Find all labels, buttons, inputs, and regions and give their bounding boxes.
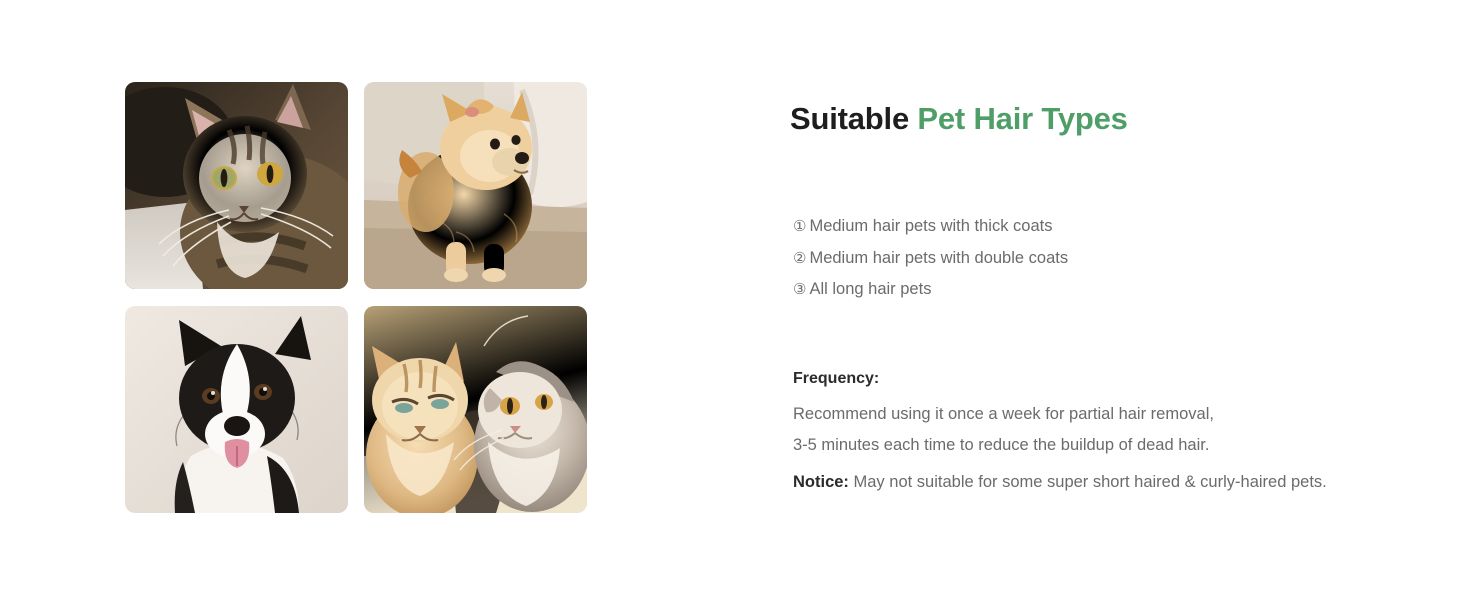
circled-number-3-icon: ③: [793, 281, 806, 298]
frequency-block: Frequency: Recommend using it once a wee…: [793, 368, 1413, 461]
frequency-label: Frequency:: [793, 368, 1413, 390]
pomeranian-dog-photo: [364, 82, 587, 289]
frequency-line-1: Recommend using it once a week for parti…: [793, 399, 1413, 430]
page-title-accent: Pet Hair Types: [917, 101, 1127, 136]
hair-type-label: Medium hair pets with double coats: [809, 249, 1068, 267]
two-persian-cats-photo: [364, 306, 587, 513]
circled-number-1-icon: ①: [793, 218, 806, 235]
hair-type-list: ①Medium hair pets with thick coats ②Medi…: [793, 211, 1393, 306]
notice-body: May not suitable for some super short ha…: [854, 473, 1327, 491]
list-item: ①Medium hair pets with thick coats: [793, 211, 1393, 243]
notice-text: Notice: May not suitable for some super …: [793, 470, 1433, 494]
page-title-leading: Suitable: [790, 101, 909, 136]
list-item: ③All long hair pets: [793, 274, 1393, 306]
list-item: ②Medium hair pets with double coats: [793, 243, 1393, 275]
hair-type-label: All long hair pets: [809, 280, 931, 298]
notice-label: Notice:: [793, 473, 849, 491]
circled-number-2-icon: ②: [793, 250, 806, 267]
pet-hair-types-panel: Suitable Pet Hair Types ①Medium hair pet…: [0, 0, 1464, 600]
hair-type-label: Medium hair pets with thick coats: [809, 217, 1052, 235]
border-collie-dog-photo: [125, 306, 348, 513]
pet-hair-info-column: Suitable Pet Hair Types ①Medium hair pet…: [790, 100, 1410, 137]
long-haired-tabby-cat-photo: [125, 82, 348, 289]
page-title: Suitable Pet Hair Types: [790, 100, 1410, 137]
frequency-line-2: 3-5 minutes each time to reduce the buil…: [793, 430, 1413, 461]
pet-photo-gallery: [125, 82, 587, 513]
